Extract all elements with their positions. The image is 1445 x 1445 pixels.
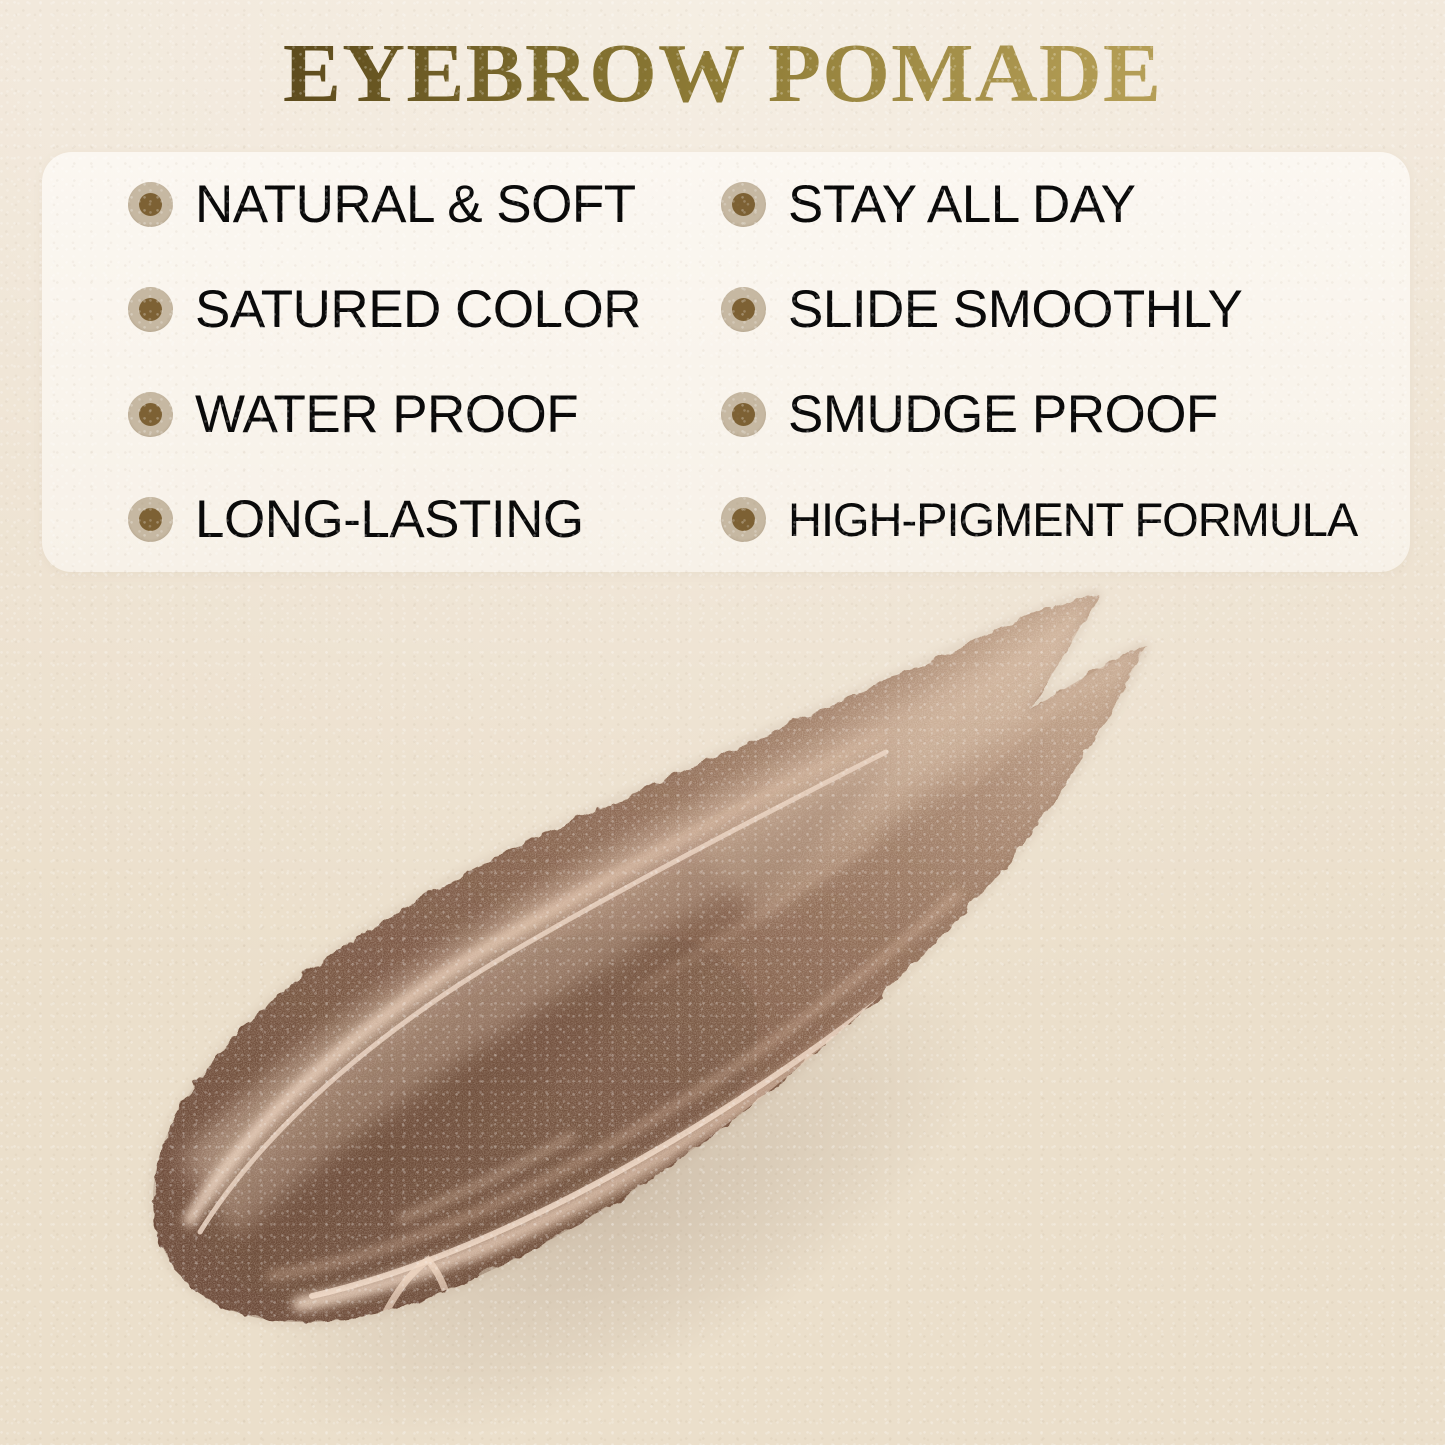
feature-grid: NATURAL & SOFT STAY ALL DAY SATURED COLO… xyxy=(42,152,1410,572)
feature-item-smudge-proof: SMUDGE PROOF xyxy=(702,362,1410,467)
feature-item-high-pigment-formula: HIGH-PIGMENT FORMULA xyxy=(702,467,1410,572)
feature-label: LONG-LASTING xyxy=(195,492,584,548)
feature-item-satured-color: SATURED COLOR xyxy=(42,257,702,362)
pomade-smear-illustration xyxy=(0,560,1445,1445)
product-swatch xyxy=(0,560,1445,1445)
feature-item-stay-all-day: STAY ALL DAY xyxy=(702,152,1410,257)
feature-item-water-proof: WATER PROOF xyxy=(42,362,702,467)
bullet-dot-icon xyxy=(128,497,173,542)
feature-item-long-lasting: LONG-LASTING xyxy=(42,467,702,572)
feature-label: NATURAL & SOFT xyxy=(195,177,636,233)
feature-label: SATURED COLOR xyxy=(195,282,641,338)
feature-label: HIGH-PIGMENT FORMULA xyxy=(788,492,1357,548)
feature-item-natural-soft: NATURAL & SOFT xyxy=(42,152,702,257)
product-feature-page: EYEBROW POMADE NATURAL & SOFT STAY ALL D… xyxy=(0,0,1445,1445)
feature-card: NATURAL & SOFT STAY ALL DAY SATURED COLO… xyxy=(42,152,1410,572)
feature-label: STAY ALL DAY xyxy=(788,177,1136,233)
feature-item-slide-smoothly: SLIDE SMOOTHLY xyxy=(702,257,1410,362)
bullet-dot-icon xyxy=(721,182,766,227)
feature-label: SLIDE SMOOTHLY xyxy=(788,282,1242,338)
bullet-dot-icon xyxy=(128,287,173,332)
bullet-dot-icon xyxy=(721,287,766,332)
feature-label: WATER PROOF xyxy=(195,387,578,443)
bullet-dot-icon xyxy=(128,182,173,227)
bullet-dot-icon xyxy=(721,392,766,437)
page-title: EYEBROW POMADE xyxy=(0,26,1445,122)
feature-label: SMUDGE PROOF xyxy=(788,387,1218,443)
bullet-dot-icon xyxy=(128,392,173,437)
bullet-dot-icon xyxy=(721,497,766,542)
